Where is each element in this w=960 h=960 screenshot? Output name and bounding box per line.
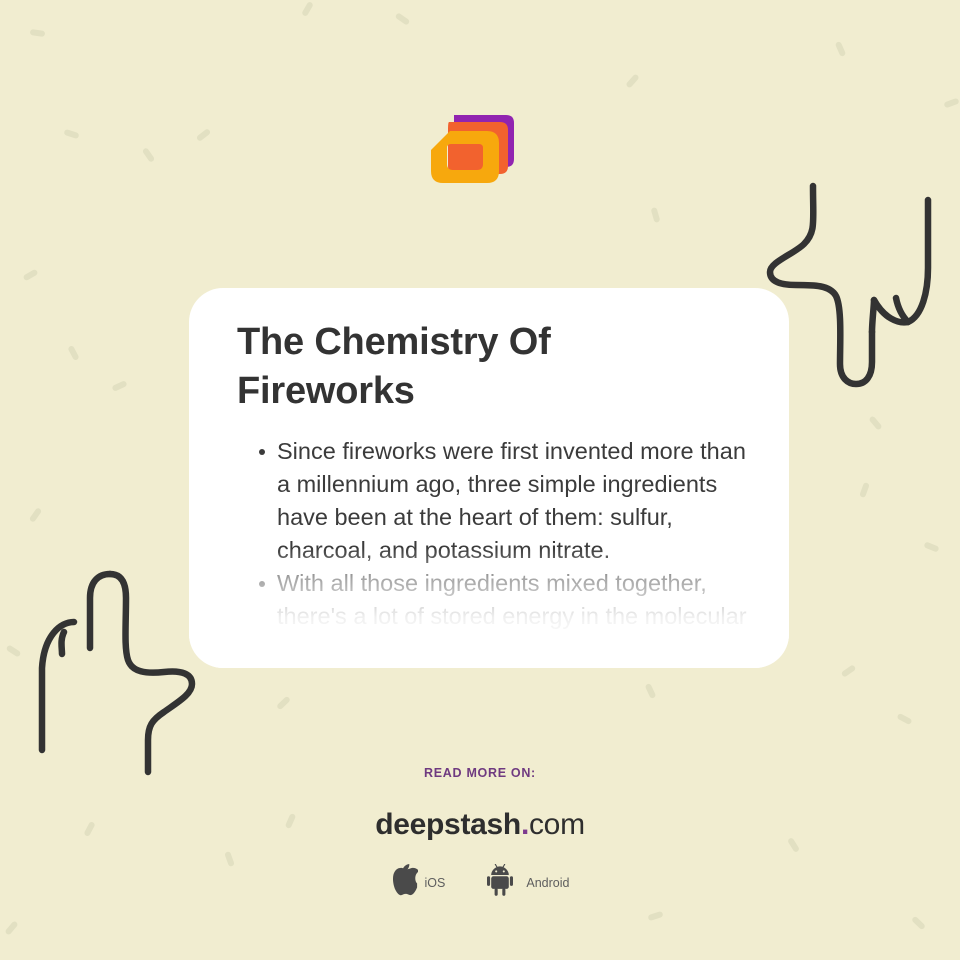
wordmark-dot: . xyxy=(521,808,529,841)
deepstash-logo xyxy=(428,102,520,194)
confetti-dash xyxy=(67,345,79,361)
wordmark-tld: com xyxy=(529,808,585,841)
confetti-dash xyxy=(395,12,411,26)
bullet-list: Since fireworks were first invented more… xyxy=(237,435,757,633)
confetti-dash xyxy=(30,29,46,37)
content-card: The Chemistry Of Fireworks Since firewor… xyxy=(189,288,789,668)
deepstash-wordmark[interactable]: deepstash.com xyxy=(0,808,960,842)
confetti-dash xyxy=(23,269,39,282)
read-more-label: READ MORE ON: xyxy=(0,766,960,780)
confetti-dash xyxy=(651,207,661,223)
infographic-card-page: The Chemistry Of Fireworks Since firewor… xyxy=(0,0,960,960)
confetti-dash xyxy=(841,664,857,678)
android-label: Android xyxy=(526,876,569,890)
confetti-dash xyxy=(6,644,22,657)
card-inner: The Chemistry Of Fireworks Since firewor… xyxy=(189,288,789,633)
ios-store-link[interactable]: iOS xyxy=(391,864,446,901)
confetti-dash xyxy=(896,713,912,725)
android-icon xyxy=(487,864,519,901)
confetti-dash xyxy=(142,147,156,163)
confetti-dash xyxy=(276,696,291,711)
list-item: With all those ingredients mixed togethe… xyxy=(237,567,757,633)
page-title: The Chemistry Of Fireworks xyxy=(237,318,637,417)
apple-icon xyxy=(391,864,418,901)
confetti-dash xyxy=(859,482,870,498)
wordmark-brand: deepstash xyxy=(375,808,521,841)
confetti-dash xyxy=(868,415,882,430)
list-item: Since fireworks were first invented more… xyxy=(237,435,757,567)
confetti-dash xyxy=(943,98,959,109)
confetti-dash xyxy=(301,1,314,17)
confetti-dash xyxy=(4,920,18,935)
confetti-dash xyxy=(29,507,43,523)
confetti-dash xyxy=(923,541,939,552)
store-badges: iOS xyxy=(0,864,960,901)
pointing-hand-left-icon xyxy=(24,558,214,793)
confetti-dash xyxy=(835,41,847,57)
android-store-link[interactable]: Android xyxy=(487,864,569,901)
confetti-dash xyxy=(647,911,663,921)
confetti-dash xyxy=(645,683,657,699)
confetti-dash xyxy=(63,129,79,139)
confetti-dash xyxy=(625,73,639,88)
confetti-dash xyxy=(196,128,212,142)
ios-label: iOS xyxy=(425,876,446,890)
confetti-dash xyxy=(111,380,127,392)
footer: READ MORE ON: deepstash.com iOS xyxy=(0,766,960,901)
confetti-dash xyxy=(911,916,926,931)
